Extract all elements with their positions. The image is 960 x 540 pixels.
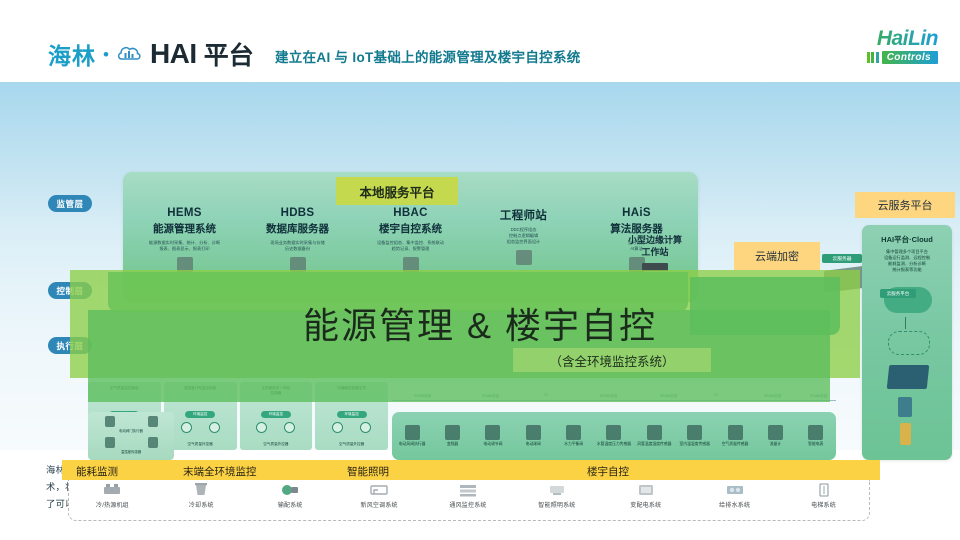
- control-panel-dials: [240, 422, 313, 433]
- platform-name: 楼宇自控系统: [354, 221, 467, 236]
- brand-hai-text: HAI: [150, 38, 197, 70]
- device-label: 空气质量传感器: [715, 442, 755, 447]
- brand-name-cn: 海林: [48, 37, 96, 71]
- platform-code: HDBS: [241, 207, 354, 219]
- cloud-server-tag: 云服务器: [822, 254, 862, 263]
- device-label: 电动球阀: [513, 442, 553, 447]
- device-row: [88, 433, 174, 448]
- subsystem-label: 变配电系统: [601, 500, 690, 509]
- air-quality-sensor-icon: [728, 425, 743, 440]
- flow-meter-icon: [768, 425, 783, 440]
- subsystem-item[interactable]: 电梯系统: [779, 482, 868, 518]
- overlay-title: 能源管理 & 楼宇自控: [0, 297, 960, 349]
- execution-device: 智能电表: [796, 425, 836, 447]
- cloud-encryption-badge: 云端加密: [734, 242, 820, 270]
- device-label: 电动风阀执行器: [392, 442, 432, 447]
- subsystem-item[interactable]: 智能照明系统: [512, 482, 601, 518]
- device-label: 电动调节阀: [473, 442, 513, 447]
- orange-bar-label: 楼宇自控: [587, 464, 629, 479]
- brand-separator-dot: •: [103, 46, 109, 63]
- orange-bar-label: 能耗监测: [76, 464, 118, 479]
- logo-hailin-text: HaiLin: [820, 28, 938, 50]
- execution-device-row: 电动风阀执行器 变频器 电动调节阀 电动球阀 水力平衡阀 水管温度压力传感器 风…: [392, 412, 836, 460]
- room-sensor-icon: [687, 425, 702, 440]
- page-title: 建立在AI 与 IoT基础上的能源管理及楼宇自控系统: [275, 46, 581, 66]
- ball-valve-icon: [526, 425, 541, 440]
- cloud-chart-icon: [116, 42, 143, 66]
- architecture-diagram: 监管层 控制层 执行层 本地服务平台 HEMS 能源管理系统 能源数据实时采集、…: [0, 82, 960, 450]
- elevator-icon: [813, 482, 835, 498]
- platform-desc: 能源数据实时采集、统计、分析、诊断 报表、图表显示、报表打印: [128, 240, 241, 252]
- logo-bars-icon: [867, 52, 879, 63]
- platform-desc: 设备监控组态、集中监控、系统联动 趋势记录、报警管理: [354, 240, 467, 252]
- logo-controls-text: Controls: [882, 51, 938, 64]
- header: 海林 • HAI 平台 建立在AI 与 IoT基础上的能源管理及楼宇自控系统 H…: [0, 0, 960, 88]
- subsystem-label: 通风监控系统: [424, 500, 513, 509]
- chiller-icon: [101, 482, 123, 498]
- subsystem-icon-strip: 冷/热源机组 冷却系统 输配系统 新风空调系统: [68, 482, 868, 518]
- device-label: 水管温度压力传感器: [594, 442, 634, 447]
- slide-root: 海林 • HAI 平台 建立在AI 与 IoT基础上的能源管理及楼宇自控系统 H…: [0, 0, 960, 540]
- tablet-icon: [900, 423, 911, 445]
- water-pipe-sensor-icon: [606, 425, 621, 440]
- logo-bottom-row: Controls: [820, 51, 938, 64]
- platform-code: 工程师站: [467, 207, 580, 223]
- device-label: 室内温湿度传感器: [675, 442, 715, 447]
- platform-desc: 现场业务数据实时采集与存储 历史数据备份: [241, 240, 354, 252]
- subsystem-label: 输配系统: [246, 500, 335, 509]
- execution-device: 水力平衡阀: [553, 425, 593, 447]
- overlay-subtitle: （含全环境监控系统）: [513, 348, 711, 372]
- execution-device: 空气质量传感器: [715, 425, 755, 447]
- execution-device: 电动球阀: [513, 425, 553, 447]
- inverter-icon: [445, 425, 460, 440]
- control-panel-dials: [164, 422, 237, 433]
- brand-platform-text: 平台: [204, 36, 254, 72]
- subsystem-item[interactable]: 输配系统: [246, 482, 335, 518]
- subsystem-item[interactable]: 变配电系统: [601, 482, 690, 518]
- control-panel-caption: 空气质量外控器: [240, 442, 313, 447]
- pump-icon: [279, 482, 301, 498]
- device-label: 风管温度湿度传感器: [634, 442, 674, 447]
- ahu-icon: [368, 482, 390, 498]
- laptop-icon: [887, 365, 930, 389]
- control-valve-icon: [485, 425, 500, 440]
- subsystem-label: 电梯系统: [779, 500, 868, 509]
- control-panel-caption: 空气质量外控器: [315, 442, 388, 447]
- brand-lockup: 海林 • HAI 平台: [48, 36, 254, 72]
- phone-icon: [898, 397, 912, 417]
- device-caption: 温湿度传感器: [88, 449, 174, 454]
- platform-column-hbac: HBAC 楼宇自控系统 设备监控组态、集中监控、系统联动 趋势记录、报警管理: [354, 207, 467, 272]
- execution-device: 水管温度压力传感器: [594, 425, 634, 447]
- subsystem-label: 给排水系统: [690, 500, 779, 509]
- subsystem-label: 智能照明系统: [512, 500, 601, 509]
- ventilation-icon: [457, 482, 479, 498]
- cloud-platform-desc: 集中管理多个项目平台 设备运行监测、远程控制 能耗监测、分析诊断 统计报表等功能: [862, 249, 952, 273]
- subsystem-item[interactable]: 冷却系统: [157, 482, 246, 518]
- execution-device: 流量计: [755, 425, 795, 447]
- lighting-icon: [546, 482, 568, 498]
- platform-column-hdbs: HDBS 数据库服务器 现场业务数据实时采集与存储 历史数据备份: [241, 207, 354, 272]
- subsystem-label: 新风空调系统: [335, 500, 424, 509]
- platform-name: 数据库服务器: [241, 221, 354, 236]
- layer-tag-supervision: 监管层: [48, 195, 92, 212]
- platform-column-hems: HEMS 能源管理系统 能源数据实时采集、统计、分析、诊断 报表、图表显示、报表…: [128, 207, 241, 272]
- water-icon: [724, 482, 746, 498]
- execution-device: 电动风阀执行器: [392, 425, 432, 447]
- platform-desc: DDC程序组态 控制点逻辑编辑 组态监控界面设计: [467, 227, 580, 245]
- balance-valve-icon: [566, 425, 581, 440]
- subsystem-item[interactable]: 冷/热源机组: [68, 482, 157, 518]
- cloud-platform-heading: HAI平台·Cloud: [862, 234, 952, 245]
- local-platform-badge: 本地服务平台: [336, 177, 458, 205]
- platform-code: HEMS: [128, 207, 241, 219]
- smart-meter-icon: [808, 425, 823, 440]
- damper-actuator-icon: [405, 425, 420, 440]
- left-execution-block: 电动阀门执行器 温湿度传感器: [88, 412, 174, 460]
- edge-workstation-label: 小型边缘计算 工作站: [609, 234, 701, 258]
- platform-code: HBAC: [354, 207, 467, 219]
- platform-name: 能源管理系统: [128, 221, 241, 236]
- subsystem-item[interactable]: 给排水系统: [690, 482, 779, 518]
- workstation-icon: [516, 250, 532, 265]
- platform-code: HAiS: [580, 207, 693, 219]
- execution-device: 风管温度湿度传感器: [634, 425, 674, 447]
- subsystem-item[interactable]: 通风监控系统: [424, 482, 513, 518]
- duct-sensor-icon: [647, 425, 662, 440]
- control-panel-pill: 环境监控: [185, 411, 215, 418]
- cooling-tower-icon: [190, 482, 212, 498]
- subsystem-orange-bar: 能耗监测 末端全环境监控 智能照明 楼宇自控: [62, 460, 880, 480]
- control-panel-pill: 环境监控: [337, 411, 367, 418]
- platform-column-engineer-station: 工程师站 DDC程序组态 控制点逻辑编辑 组态监控界面设计: [467, 207, 580, 272]
- control-panel-dials: [315, 422, 388, 433]
- execution-device: 变频器: [432, 425, 472, 447]
- device-label: 智能电表: [796, 442, 836, 447]
- hailin-controls-logo: HaiLin Controls: [820, 28, 938, 70]
- execution-device: 电动调节阀: [473, 425, 513, 447]
- power-icon: [635, 482, 657, 498]
- orange-bar-label: 末端全环境监控: [183, 464, 257, 479]
- cloud-platform-badge: 云服务平台: [855, 192, 955, 218]
- subsystem-label: 冷却系统: [157, 500, 246, 509]
- device-label: 流量计: [755, 442, 795, 447]
- execution-device: 室内温湿度传感器: [675, 425, 715, 447]
- subsystem-item[interactable]: 新风空调系统: [335, 482, 424, 518]
- control-panel-pill: 环境监控: [261, 411, 291, 418]
- control-panel-caption: 空气质量外控器: [164, 442, 237, 447]
- orange-bar-label: 智能照明: [347, 464, 389, 479]
- device-label: 变频器: [432, 442, 472, 447]
- edge-workstation: 小型边缘计算 工作站: [609, 234, 701, 271]
- subsystem-label: 冷/热源机组: [68, 500, 157, 509]
- device-label: 水力平衡阀: [553, 442, 593, 447]
- device-row: [88, 412, 174, 427]
